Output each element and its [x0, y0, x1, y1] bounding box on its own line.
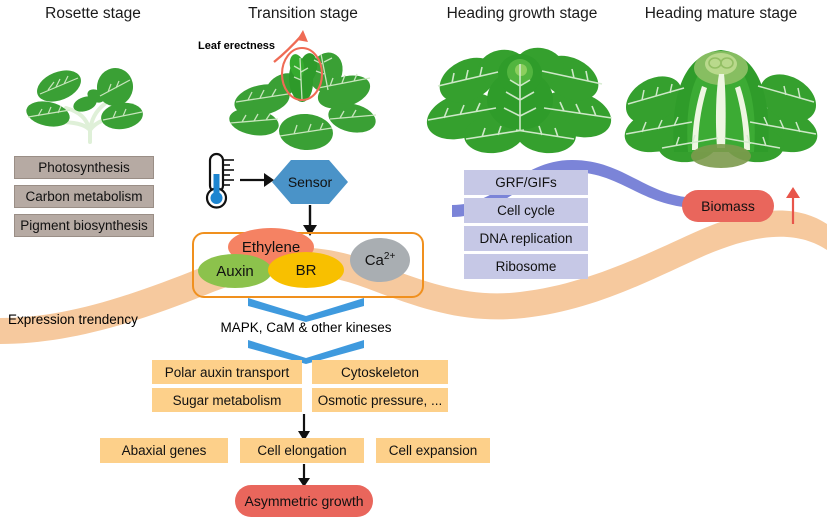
heading-box-ribosome[interactable]: Ribosome	[464, 254, 588, 279]
process-box-pigment-biosynthesis[interactable]: Pigment biosynthesis	[14, 214, 154, 237]
process-box-photosynthesis[interactable]: Photosynthesis	[14, 156, 154, 179]
hormone-auxin[interactable]: Auxin	[198, 254, 272, 288]
downstream-box-polar-auxin-transport[interactable]: Polar auxin transport	[152, 360, 302, 384]
chevron-down-to-kinases-icon	[248, 296, 364, 322]
hormone-calcium[interactable]: Ca2+	[350, 238, 410, 282]
stage-title-transition: Transition stage	[214, 5, 392, 23]
process-box-carbon-metabolism[interactable]: Carbon metabolism	[14, 185, 154, 208]
sensor-label: Sensor	[288, 174, 332, 190]
biomass-increase-arrow-icon	[782, 186, 804, 226]
downstream-box-cell-elongation[interactable]: Cell elongation	[240, 438, 364, 463]
leaf-erectness-marker-icon	[258, 26, 338, 106]
sensor-node[interactable]: Sensor	[272, 160, 348, 204]
heading-box-cell-cycle[interactable]: Cell cycle	[464, 198, 588, 223]
outcome-asymmetric-growth[interactable]: Asymmetric growth	[235, 485, 373, 517]
stage-title-heading-growth: Heading growth stage	[424, 5, 620, 23]
biomass-pill[interactable]: Biomass	[682, 190, 774, 222]
downstream-box-osmotic-pressure[interactable]: Osmotic pressure, ...	[312, 388, 448, 412]
downstream-box-cytoskeleton[interactable]: Cytoskeleton	[312, 360, 448, 384]
downstream-box-sugar-metabolism[interactable]: Sugar metabolism	[152, 388, 302, 412]
heading-box-grf-gifs[interactable]: GRF/GIFs	[464, 170, 588, 195]
downstream-box-cell-expansion[interactable]: Cell expansion	[376, 438, 490, 463]
hormone-br[interactable]: BR	[268, 252, 344, 288]
hormone-calcium-label: Ca2+	[365, 251, 396, 269]
heading-box-dna-replication[interactable]: DNA replication	[464, 226, 588, 251]
arrow-thermometer-to-sensor-icon	[240, 168, 276, 192]
expression-trendency-label: Expression trendency	[8, 312, 138, 327]
downstream-box-abaxial-genes[interactable]: Abaxial genes	[100, 438, 228, 463]
hormone-auxin-label: Auxin	[216, 263, 254, 280]
hormone-br-label: BR	[296, 262, 317, 279]
figure-canvas: Rosette stage Transition stage Heading g…	[0, 0, 827, 521]
kinase-cascade-label: MAPK, CaM & other kineses	[208, 320, 404, 335]
stage-title-heading-mature: Heading mature stage	[622, 5, 820, 23]
stage-title-rosette: Rosette stage	[14, 5, 172, 23]
